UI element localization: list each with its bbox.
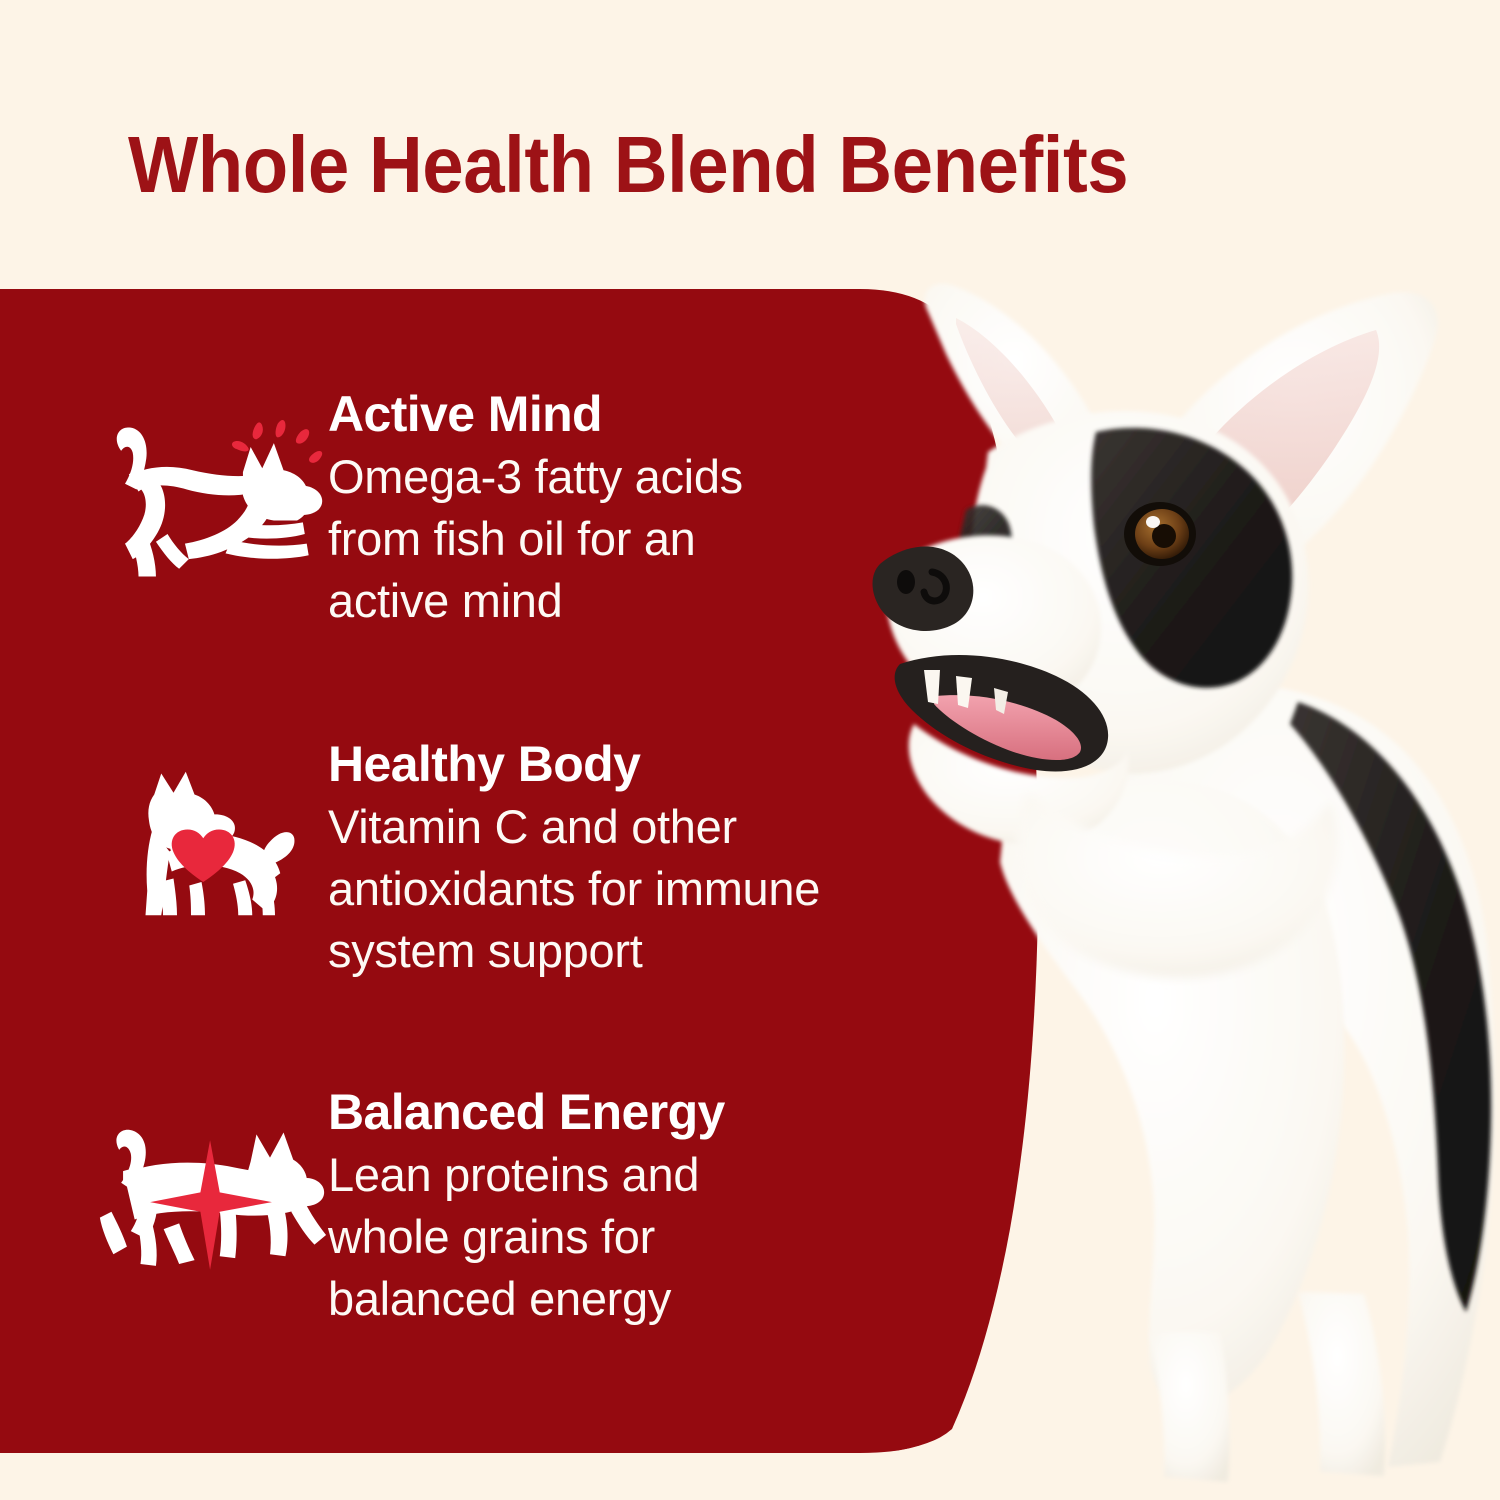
- benefit-item-balanced-energy: Balanced Energy Lean proteins and whole …: [96, 1076, 808, 1330]
- benefit-heading-1: Active Mind: [328, 384, 798, 444]
- benefit-description-1: Omega-3 fatty acids from fish oil for an…: [328, 446, 798, 632]
- dog-standing-heart-icon: [107, 758, 317, 936]
- benefit-icon-2: [96, 742, 328, 952]
- benefit-heading-3: Balanced Energy: [328, 1082, 808, 1142]
- benefit-icon-1: [96, 400, 328, 610]
- infographic-canvas: Whole Health Blend Benefits: [0, 0, 1500, 1500]
- dog-trotting-sparkle-icon: [96, 1121, 328, 1289]
- benefit-text-1: Active Mind Omega-3 fatty acids from fis…: [328, 378, 798, 632]
- benefit-item-healthy-body: Healthy Body Vitamin C and other antioxi…: [96, 728, 953, 982]
- benefit-text-2: Healthy Body Vitamin C and other antioxi…: [328, 728, 953, 982]
- dog-play-bow-alert-icon: [96, 415, 328, 595]
- benefit-text-3: Balanced Energy Lean proteins and whole …: [328, 1076, 808, 1330]
- benefit-icon-3: [96, 1100, 328, 1310]
- benefit-description-3: Lean proteins and whole grains for balan…: [328, 1144, 808, 1330]
- benefit-description-2: Vitamin C and other antioxidants for imm…: [328, 796, 953, 982]
- benefit-heading-2: Healthy Body: [328, 734, 953, 794]
- page-title: Whole Health Blend Benefits: [128, 122, 1151, 208]
- benefit-item-active-mind: Active Mind Omega-3 fatty acids from fis…: [96, 378, 798, 632]
